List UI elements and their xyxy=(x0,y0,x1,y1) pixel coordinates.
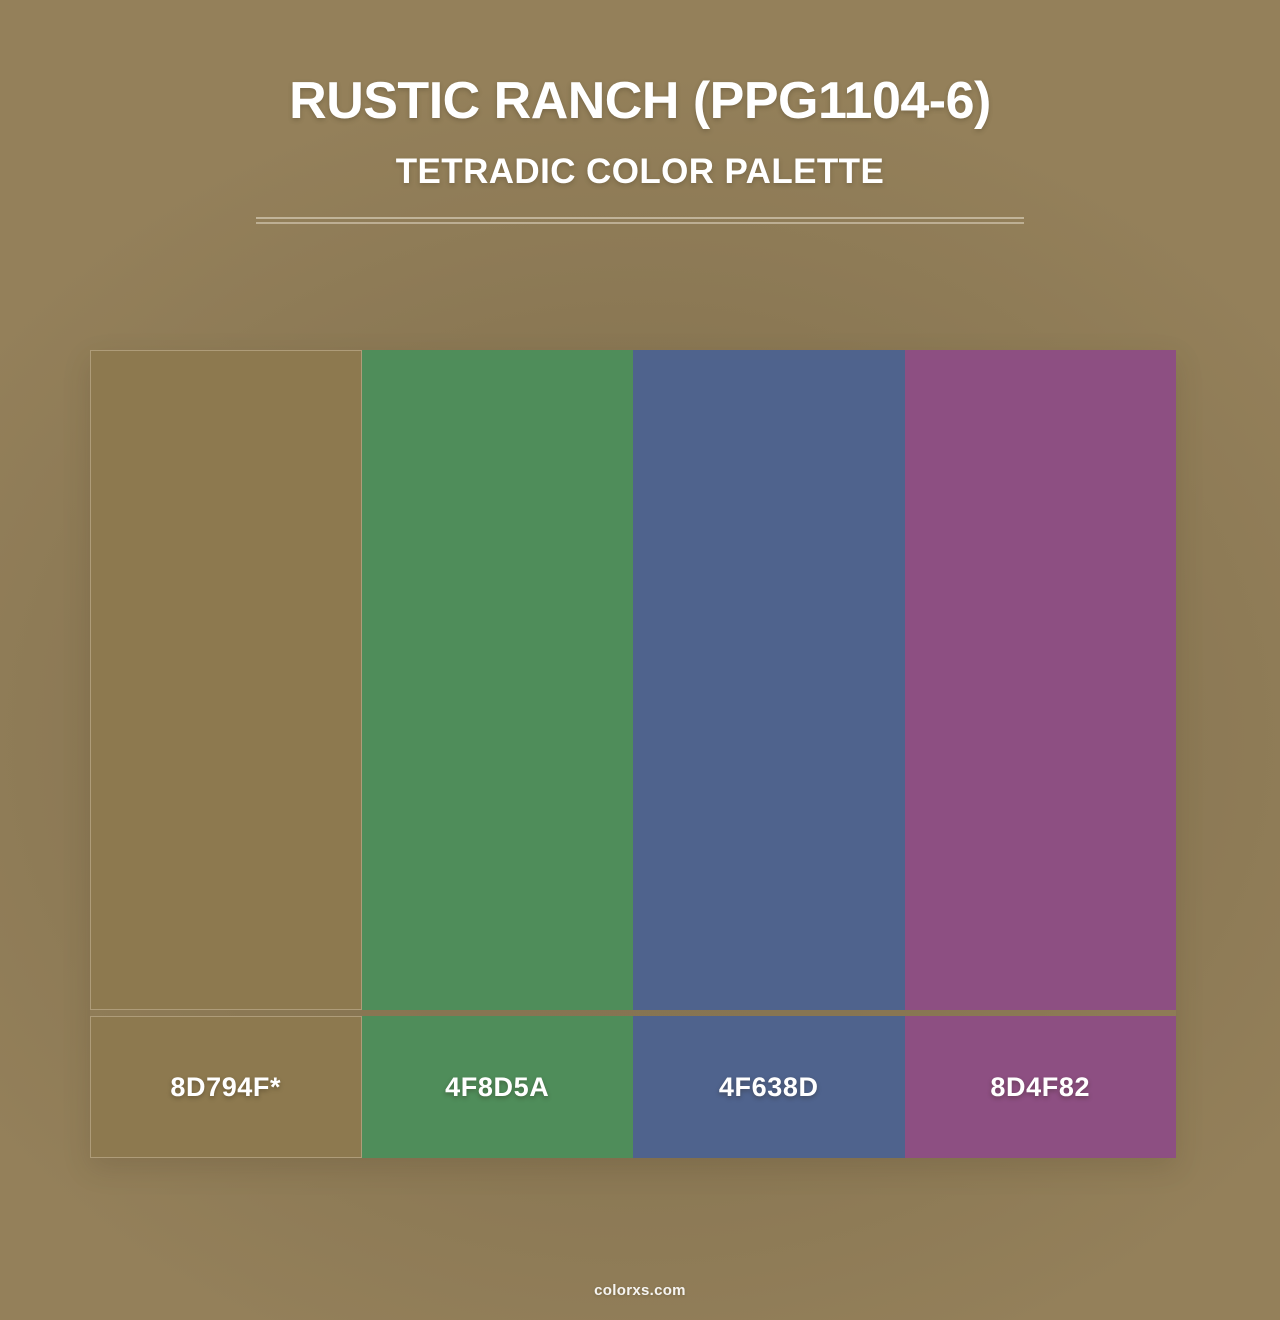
swatch-column-2[interactable]: 4F8D5A xyxy=(362,350,634,1158)
swatch-block-1[interactable] xyxy=(90,350,362,1010)
color-palette: 8D794F* 4F8D5A 4F638D 8D4F82 xyxy=(90,350,1176,1158)
swatch-column-1[interactable]: 8D794F* xyxy=(90,350,362,1158)
swatch-label-band-1[interactable]: 8D794F* xyxy=(90,1016,362,1158)
page-subtitle: TETRADIC COLOR PALETTE xyxy=(0,152,1280,191)
swatch-block-4[interactable] xyxy=(905,350,1177,1010)
swatch-block-3[interactable] xyxy=(633,350,905,1010)
swatch-hex-label-1: 8D794F* xyxy=(170,1072,281,1103)
swatch-label-band-2[interactable]: 4F8D5A xyxy=(362,1016,634,1158)
swatch-hex-label-3: 4F638D xyxy=(719,1072,819,1103)
swatch-block-2[interactable] xyxy=(362,350,634,1010)
swatch-column-3[interactable]: 4F638D xyxy=(633,350,905,1158)
header: RUSTIC RANCH (PPG1104-6) TETRADIC COLOR … xyxy=(0,0,1280,224)
swatch-column-4[interactable]: 8D4F82 xyxy=(905,350,1177,1158)
swatch-label-band-3[interactable]: 4F638D xyxy=(633,1016,905,1158)
site-watermark: colorxs.com xyxy=(594,1282,686,1299)
swatch-label-band-4[interactable]: 8D4F82 xyxy=(905,1016,1177,1158)
swatch-hex-label-4: 8D4F82 xyxy=(990,1072,1090,1103)
page-title: RUSTIC RANCH (PPG1104-6) xyxy=(0,72,1280,130)
palette-page: RUSTIC RANCH (PPG1104-6) TETRADIC COLOR … xyxy=(0,0,1280,1320)
header-divider xyxy=(256,217,1024,224)
footer: colorxs.com xyxy=(0,1282,1280,1300)
swatch-hex-label-2: 4F8D5A xyxy=(445,1072,549,1103)
divider-rule-bottom xyxy=(256,222,1024,224)
divider-rule-top xyxy=(256,217,1024,219)
